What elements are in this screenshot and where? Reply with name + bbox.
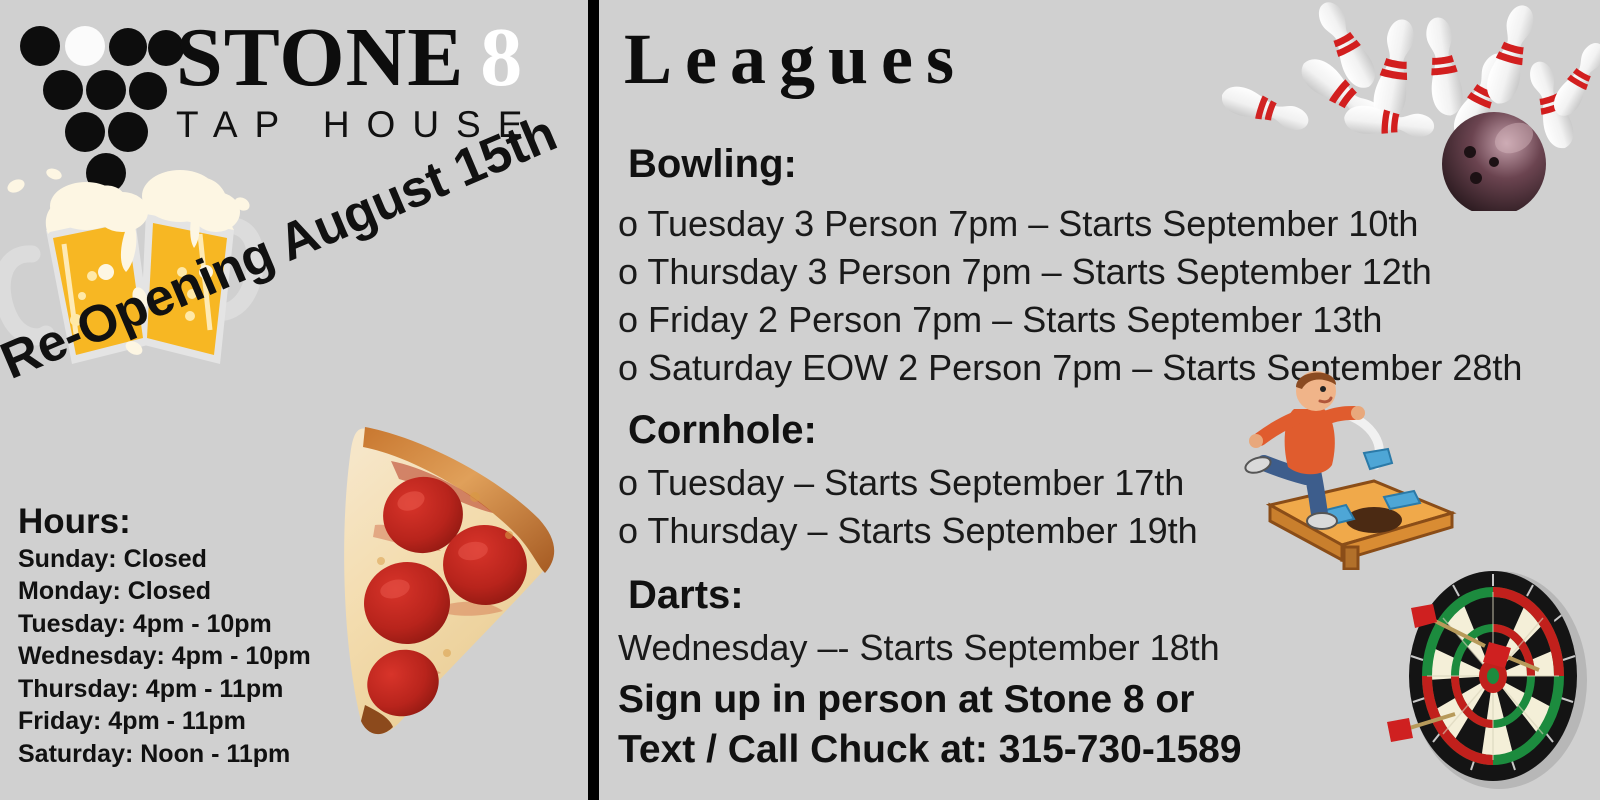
bowling-strike-icon (1222, 0, 1600, 211)
page-title: Leagues (624, 18, 967, 101)
cornhole-item-thursday: o Thursday – Starts September 19th (618, 510, 1198, 552)
cornhole-item-tuesday: o Tuesday – Starts September 17th (618, 462, 1184, 504)
hours-line-wednesday: Wednesday: 4pm - 10pm (18, 640, 378, 673)
brand-name-text: STONE (176, 11, 464, 104)
promo-poster: STONE8 TAP HOUSE (0, 0, 1600, 800)
section-heading-cornhole: Cornhole: (628, 408, 817, 453)
hours-line-sunday: Sunday: Closed (18, 543, 378, 576)
dartboard-icon (1381, 552, 1600, 800)
hours-line-tuesday: Tuesday: 4pm - 10pm (18, 608, 378, 641)
hours-line-monday: Monday: Closed (18, 575, 378, 608)
hours-title: Hours: (18, 503, 378, 541)
bowling-item-thursday: o Thursday 3 Person 7pm – Starts Septemb… (618, 251, 1432, 293)
brand-name: STONE8 (176, 18, 576, 98)
hours-block: Hours: Sunday: Closed Monday: Closed Tue… (18, 503, 378, 770)
darts-item-wednesday: Wednesday –- Starts September 18th (618, 627, 1220, 669)
grape-dot-triangle-icon (18, 22, 178, 157)
hours-line-thursday: Thursday: 4pm - 11pm (18, 673, 378, 706)
signup-line-2[interactable]: Text / Call Chuck at: 315-730-1589 (618, 728, 1242, 772)
bowling-item-friday: o Friday 2 Person 7pm – Starts September… (618, 299, 1382, 341)
signup-line-1: Sign up in person at Stone 8 or (618, 678, 1194, 722)
section-heading-darts: Darts: (628, 573, 744, 618)
cornhole-player-icon (1224, 355, 1464, 570)
hours-line-friday: Friday: 4pm - 11pm (18, 705, 378, 738)
right-panel: Leagues Bowling: o Tuesday 3 Person 7pm … (599, 0, 1600, 800)
hours-line-saturday: Saturday: Noon - 11pm (18, 738, 378, 771)
brand-number-8: 8 (480, 11, 523, 104)
left-panel: STONE8 TAP HOUSE (0, 0, 588, 800)
vertical-divider (588, 0, 599, 800)
section-heading-bowling: Bowling: (628, 142, 797, 187)
